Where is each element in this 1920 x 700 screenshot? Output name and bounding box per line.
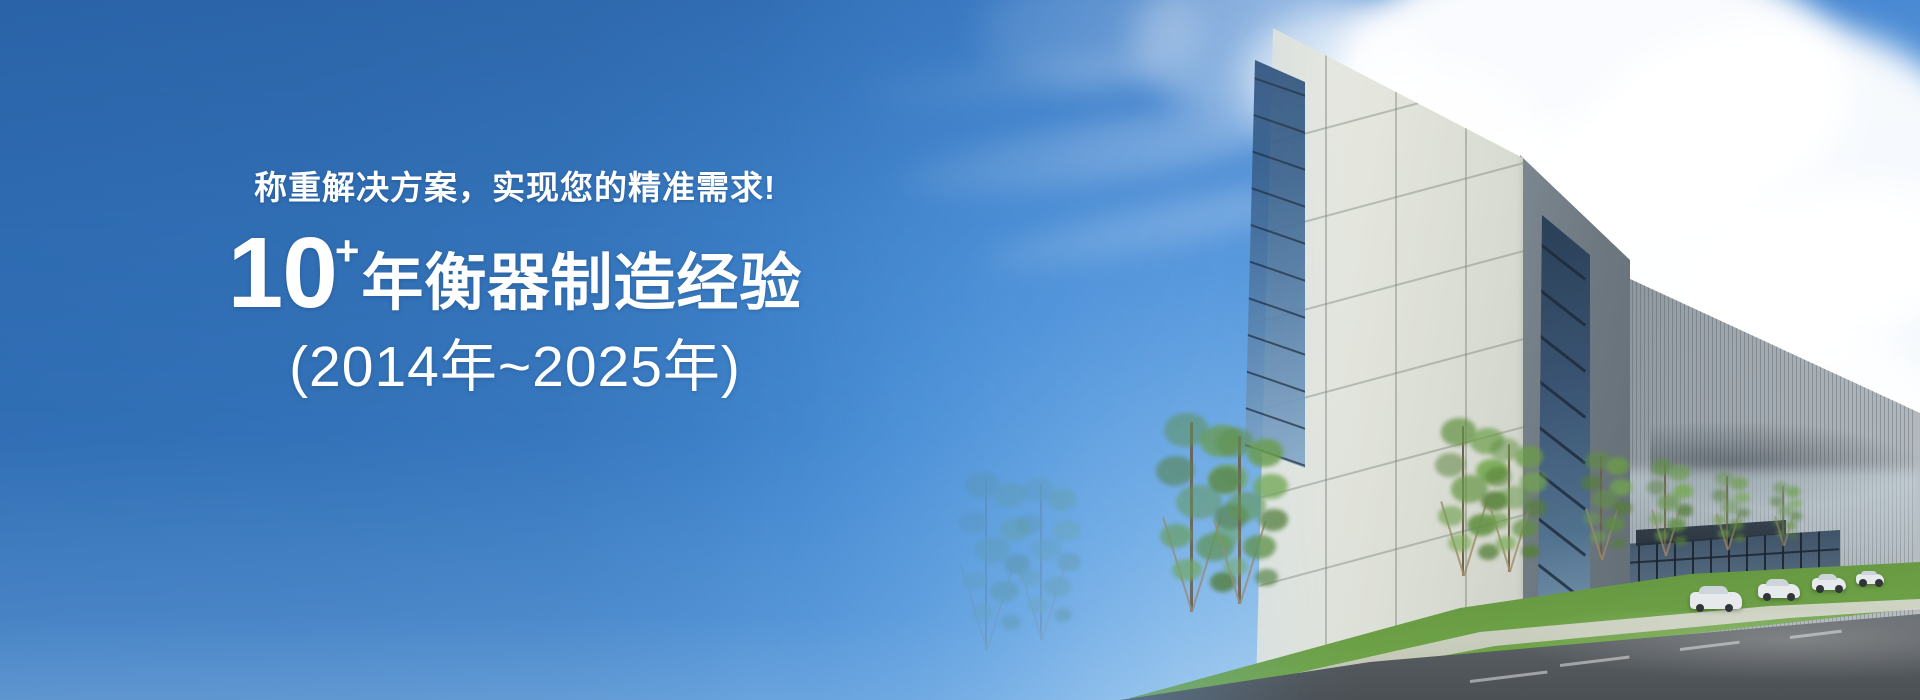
years-number: 10: [228, 224, 337, 322]
banner-years-line: 10+年衡器制造经验: [0, 224, 1030, 322]
years-suffix-text: 年衡器制造经验: [361, 253, 802, 315]
hero-banner: 称重解决方案，实现您的精准需求! 10+年衡器制造经验 (2014年~2025年…: [0, 0, 1920, 700]
banner-date-range: (2014年~2025年): [0, 336, 1030, 399]
banner-copy: 称重解决方案，实现您的精准需求! 10+年衡器制造经验 (2014年~2025年…: [0, 0, 1030, 700]
years-plus-superscript: +: [335, 230, 360, 272]
banner-headline-primary: 称重解决方案，实现您的精准需求!: [0, 168, 1030, 208]
